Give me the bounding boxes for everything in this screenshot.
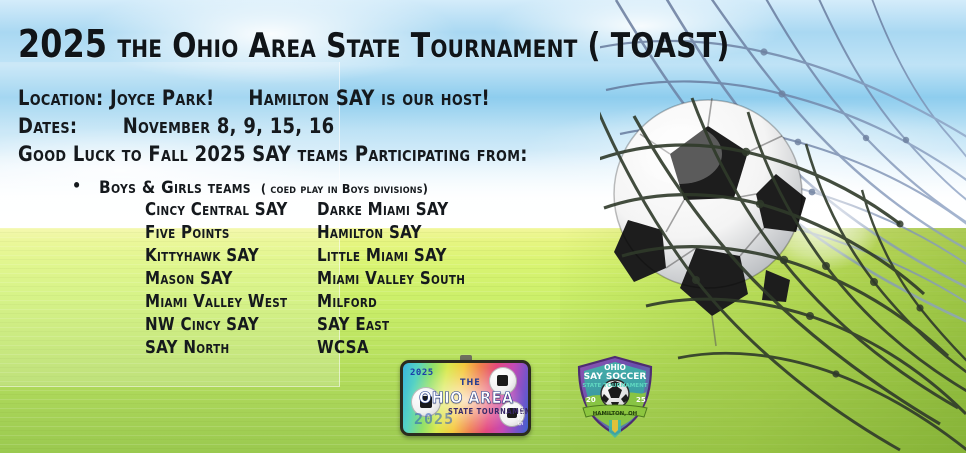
- team-name: Mason SAY: [145, 268, 310, 291]
- team-name: SAY East: [317, 314, 465, 337]
- team-list: Cincy Central SAY Darke Miami SAY Five P…: [145, 199, 471, 360]
- pin-year-side: 2025: [516, 406, 524, 427]
- crest-year-left: 20: [586, 396, 596, 404]
- ohio-say-soccer-crest-logo: OHIO SAY SOCCER STATE TOURNAMENT 20 25 H…: [573, 354, 657, 442]
- team-name: Darke Miami SAY: [317, 199, 465, 222]
- team-name: Miami Valley West: [145, 291, 310, 314]
- pin-main-title: OHIO AREA: [419, 388, 514, 407]
- team-name: Milford: [317, 291, 465, 314]
- crest-year-right: 25: [636, 396, 646, 404]
- teams-bullet-heading: • Boys & Girls teams ( coed play in Boys…: [72, 176, 428, 198]
- crest-line1: OHIO: [604, 363, 626, 372]
- good-luck-line: Good Luck to Fall 2025 SAY teams Partici…: [18, 142, 528, 166]
- location-extra: Hamilton SAY is our host!: [248, 86, 490, 110]
- pin-year-bottom: 2025: [414, 410, 454, 428]
- pin-the-label: THE: [460, 378, 481, 388]
- pin-body: 2025 THE OHIO AREA STATE TOURNAMENT 2025…: [400, 360, 531, 436]
- team-name: Hamilton SAY: [317, 222, 465, 245]
- title-rest: the Ohio Area State Tournament ( TOAST): [117, 26, 729, 66]
- team-name: Little Miami SAY: [317, 245, 465, 268]
- dates-value: November 8, 9, 15, 16: [123, 114, 335, 138]
- location-line: Location: Joyce Park! Hamilton SAY is ou…: [18, 86, 490, 110]
- bullet-heading-text: Boys & Girls teams: [99, 178, 251, 198]
- team-name: Miami Valley South: [317, 268, 465, 291]
- poster-canvas: 2025 the Ohio Area State Tournament ( TO…: [0, 0, 966, 453]
- tournament-pin-badge: 2025 THE OHIO AREA STATE TOURNAMENT 2025…: [400, 360, 531, 436]
- location-value: Joyce Park!: [110, 86, 214, 110]
- team-name: WCSA: [317, 337, 465, 360]
- crest-line2: SAY SOCCER: [584, 372, 647, 382]
- pin-year-top: 2025: [410, 368, 434, 378]
- title-year: 2025: [18, 22, 107, 66]
- team-name: SAY North: [145, 337, 310, 360]
- team-name: Five Points: [145, 222, 310, 245]
- dates-label: Dates:: [18, 114, 77, 138]
- crest-line3: STATE TOURNAMENT: [582, 383, 647, 389]
- location-label: Location:: [18, 86, 103, 110]
- team-name: Cincy Central SAY: [145, 199, 310, 222]
- dates-line: Dates: November 8, 9, 15, 16: [18, 114, 334, 138]
- bullet-heading-note: ( coed play in Boys divisions): [256, 181, 428, 196]
- bullet-icon: •: [72, 176, 94, 195]
- team-name: Kittyhawk SAY: [145, 245, 310, 268]
- page-title: 2025 the Ohio Area State Tournament ( TO…: [18, 22, 730, 66]
- crest-banner-text: HAMILTON, OH: [593, 411, 638, 417]
- team-name: NW Cincy SAY: [145, 314, 310, 337]
